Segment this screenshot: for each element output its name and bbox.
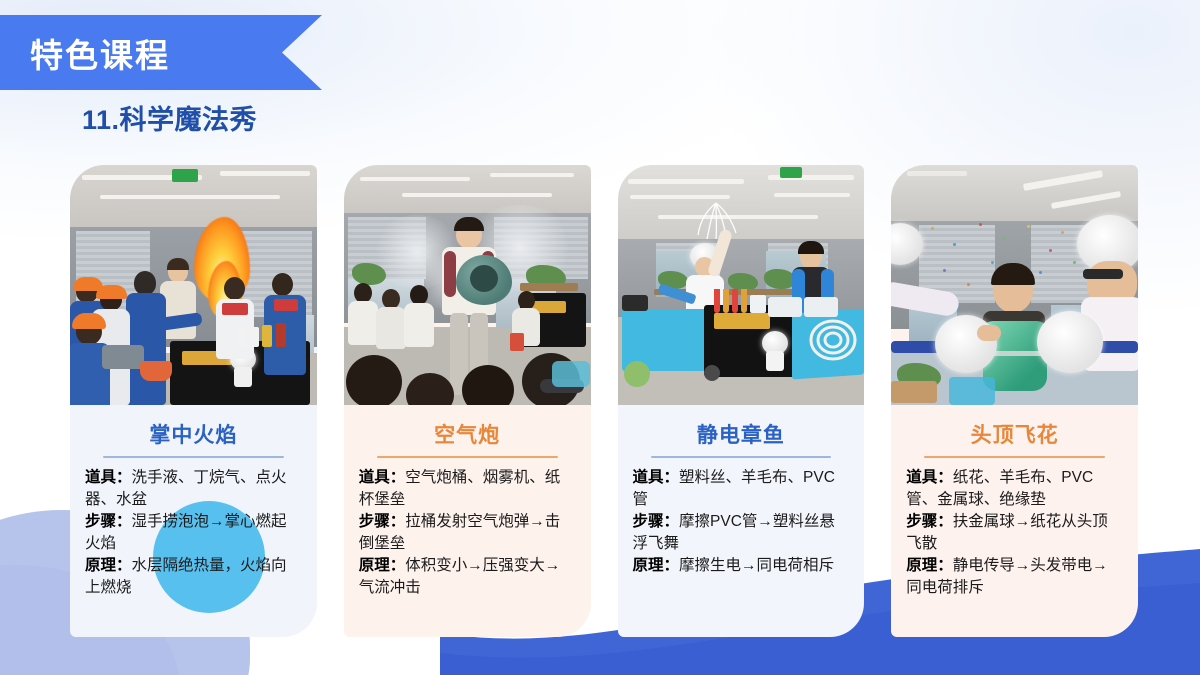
exit-sign-icon: [780, 167, 802, 178]
label-props: 道具：: [359, 469, 406, 486]
card-title: 静电章鱼: [633, 419, 850, 449]
card-text: 道具：塑料丝、羊毛布、PVC管 步骤：摩擦PVC管→塑料丝悬浮飞舞 原理：摩擦生…: [633, 467, 850, 577]
label-props: 道具：: [85, 469, 132, 486]
label-steps: 步骤：: [359, 513, 406, 530]
card-divider: [377, 456, 558, 458]
card-body-palm-flame: 掌中火焰 道具：洗手液、丁烷气、点火器、水盆 步骤：湿手捞泡泡→掌心燃起火焰 原…: [70, 405, 317, 611]
label-principle: 原理：: [85, 557, 132, 574]
label-principle: 原理：: [359, 557, 406, 574]
label-steps: 步骤：: [906, 513, 953, 530]
header-ribbon: 特色课程: [0, 15, 322, 90]
card-divider: [103, 456, 284, 458]
card-divider: [651, 456, 832, 458]
value-principle: 摩擦生电→同电荷相斥: [679, 557, 834, 574]
label-props: 道具：: [633, 469, 680, 486]
label-steps: 步骤：: [633, 513, 680, 530]
card-title: 空气炮: [359, 419, 576, 449]
card-flying-flowers[interactable]: 头顶飞花 道具：纸花、羊毛布、PVC管、金属球、绝缘垫 步骤：扶金属球→纸花从头…: [891, 165, 1138, 637]
floating-streamers-icon: [692, 199, 740, 241]
card-text: 道具：空气炮桶、烟雾机、纸杯堡垒 步骤：拉桶发射空气炮弹→击倒堡垒 原理：体积变…: [359, 467, 576, 599]
exit-sign-icon: [172, 169, 198, 182]
card-static-octopus[interactable]: 静电章鱼 道具：塑料丝、羊毛布、PVC管 步骤：摩擦PVC管→塑料丝悬浮飞舞 原…: [618, 165, 865, 637]
label-principle: 原理：: [633, 557, 680, 574]
card-photo-static-octopus: [618, 165, 865, 405]
label-steps: 步骤：: [85, 513, 132, 530]
card-text: 道具：纸花、羊毛布、PVC管、金属球、绝缘垫 步骤：扶金属球→纸花从头顶飞散 原…: [906, 467, 1123, 599]
card-title: 头顶飞花: [906, 419, 1123, 449]
label-props: 道具：: [906, 469, 953, 486]
card-title: 掌中火焰: [85, 419, 302, 449]
card-divider: [924, 456, 1105, 458]
card-photo-flying-flowers: [891, 165, 1138, 405]
card-body-flying-flowers: 头顶飞花 道具：纸花、羊毛布、PVC管、金属球、绝缘垫 步骤：扶金属球→纸花从头…: [891, 405, 1138, 611]
cards-row: 掌中火焰 道具：洗手液、丁烷气、点火器、水盆 步骤：湿手捞泡泡→掌心燃起火焰 原…: [70, 165, 1138, 637]
card-text: 道具：洗手液、丁烷气、点火器、水盆 步骤：湿手捞泡泡→掌心燃起火焰 原理：水层隔…: [85, 467, 302, 599]
card-air-cannon[interactable]: 空气炮 道具：空气炮桶、烟雾机、纸杯堡垒 步骤：拉桶发射空气炮弹→击倒堡垒 原理…: [344, 165, 591, 637]
section-subtitle: 11.科学魔法秀: [82, 98, 257, 137]
card-body-static-octopus: 静电章鱼 道具：塑料丝、羊毛布、PVC管 步骤：摩擦PVC管→塑料丝悬浮飞舞 原…: [618, 405, 865, 589]
card-body-air-cannon: 空气炮 道具：空气炮桶、烟雾机、纸杯堡垒 步骤：拉桶发射空气炮弹→击倒堡垒 原理…: [344, 405, 591, 611]
label-principle: 原理：: [906, 557, 953, 574]
card-photo-air-cannon: [344, 165, 591, 405]
ribbon-label: 特色课程: [30, 29, 170, 77]
card-palm-flame[interactable]: 掌中火焰 道具：洗手液、丁烷气、点火器、水盆 步骤：湿手捞泡泡→掌心燃起火焰 原…: [70, 165, 317, 637]
rope-coil-icon: [804, 315, 862, 365]
card-photo-palm-flame: [70, 165, 317, 405]
